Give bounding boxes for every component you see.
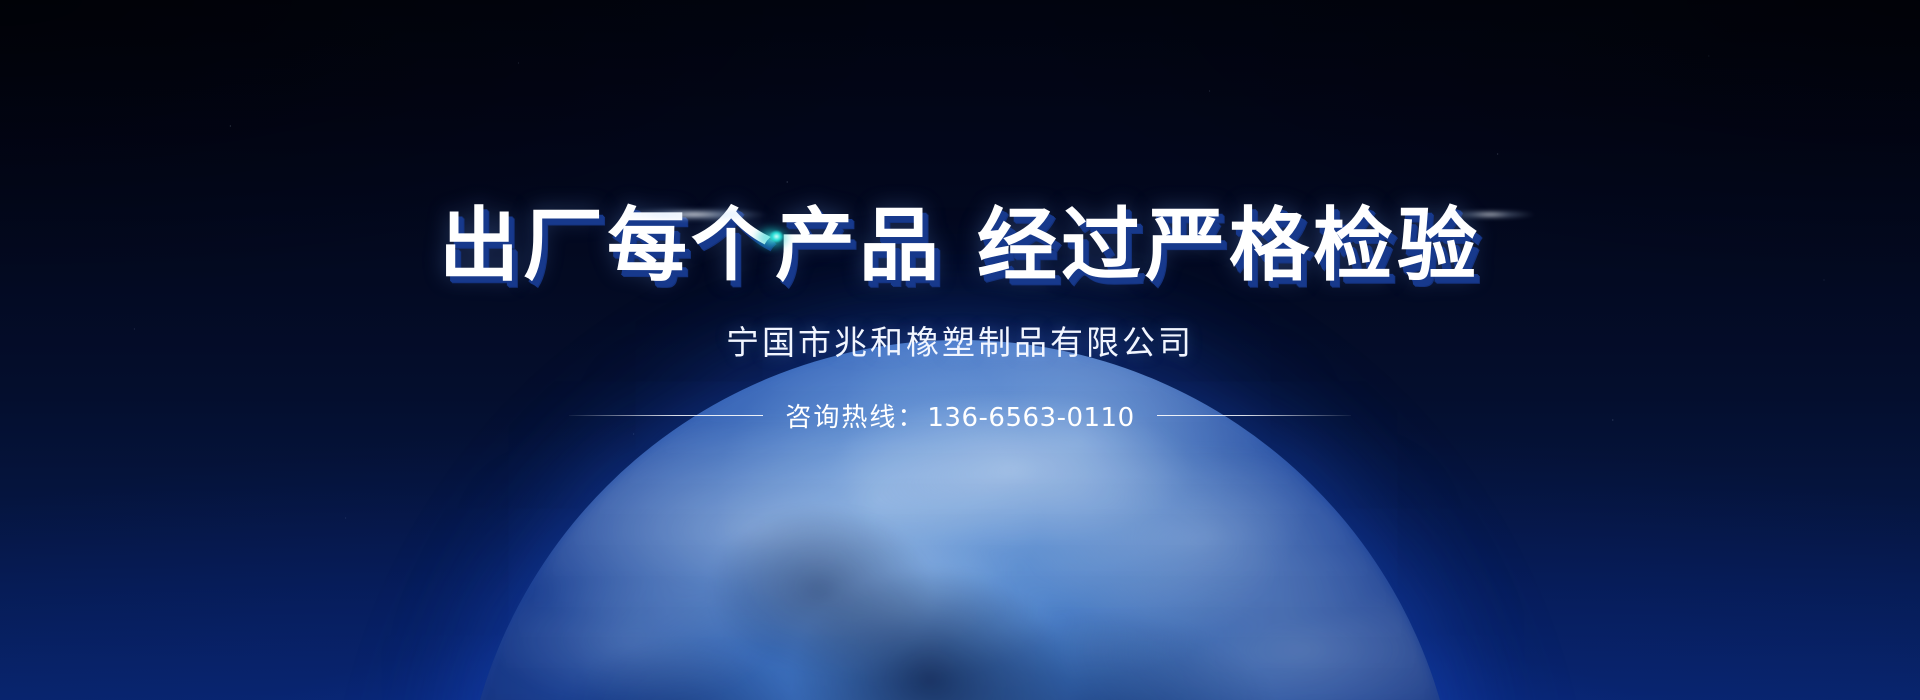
divider-line-left: [569, 415, 763, 416]
hotline-text: 咨询热线： 136-6563-0110: [785, 397, 1134, 434]
banner-content: 出厂每个产品经过严格检验 宁国市兆和橡塑制品有限公司 咨询热线： 136-656…: [0, 0, 1920, 700]
promo-banner: 出厂每个产品经过严格检验 宁国市兆和橡塑制品有限公司 咨询热线： 136-656…: [0, 0, 1920, 700]
banner-headline: 出厂每个产品经过严格检验: [439, 206, 1481, 286]
headline-part-1: 出厂每个产品: [439, 199, 943, 292]
divider-line-right: [1157, 415, 1351, 416]
headline-part-2: 经过严格检验: [977, 199, 1481, 292]
hotline-row: 咨询热线： 136-6563-0110: [569, 397, 1350, 434]
hotline-label: 咨询热线：: [785, 397, 925, 434]
company-name: 宁国市兆和橡塑制品有限公司: [726, 316, 1194, 364]
hotline-number[interactable]: 136-6563-0110: [927, 403, 1134, 433]
